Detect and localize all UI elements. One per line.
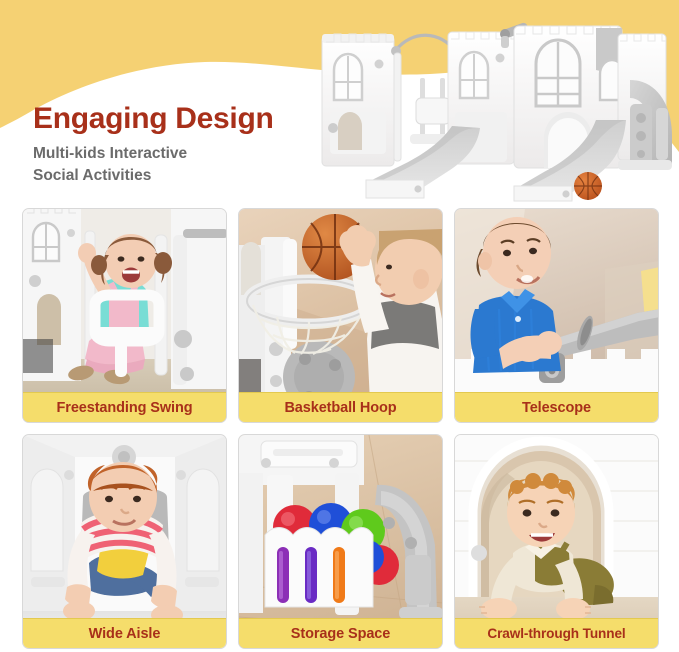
feature-cell-freestanding-swing[interactable]: Freestanding Swing — [22, 208, 227, 423]
basketball-icon — [574, 172, 602, 200]
feature-cell-wide-aisle[interactable]: Wide Aisle — [22, 434, 227, 649]
feature-cell-crawl-through-tunnel[interactable]: Crawl-through Tunnel — [454, 434, 659, 649]
photo-baby-in-tunnel — [455, 435, 658, 648]
caption-basketball-hoop: Basketball Hoop — [239, 392, 442, 422]
caption-freestanding-swing: Freestanding Swing — [23, 392, 226, 422]
feature-grid: Freestanding Swing — [22, 208, 659, 649]
product-feature-infographic: Engaging Design Multi-kids Interactive S… — [0, 0, 679, 652]
feature-cell-telescope[interactable]: Telescope — [454, 208, 659, 423]
hero-subtitle-line-2: Social Activities — [33, 165, 274, 187]
caption-crawl-through-tunnel: Crawl-through Tunnel — [455, 618, 658, 648]
feature-cell-basketball-hoop[interactable]: Basketball Hoop — [238, 208, 443, 423]
photo-ball-storage-bin — [239, 435, 442, 648]
photo-toddler-in-aisle — [23, 435, 226, 648]
photo-toddler-in-swing — [23, 209, 226, 422]
caption-wide-aisle: Wide Aisle — [23, 618, 226, 648]
product-image-playset — [300, 8, 679, 203]
photo-toddler-with-telescope — [455, 209, 658, 422]
caption-storage-space: Storage Space — [239, 618, 442, 648]
hero-banner: Engaging Design Multi-kids Interactive S… — [0, 0, 679, 205]
hero-subtitle: Multi-kids Interactive Social Activities — [33, 143, 274, 188]
feature-cell-storage-space[interactable]: Storage Space — [238, 434, 443, 649]
caption-telescope: Telescope — [455, 392, 658, 422]
page-title: Engaging Design — [33, 103, 274, 135]
hero-subtitle-line-1: Multi-kids Interactive — [33, 143, 274, 165]
photo-toddler-shooting-hoop — [239, 209, 442, 422]
hero-text-block: Engaging Design Multi-kids Interactive S… — [33, 103, 274, 187]
